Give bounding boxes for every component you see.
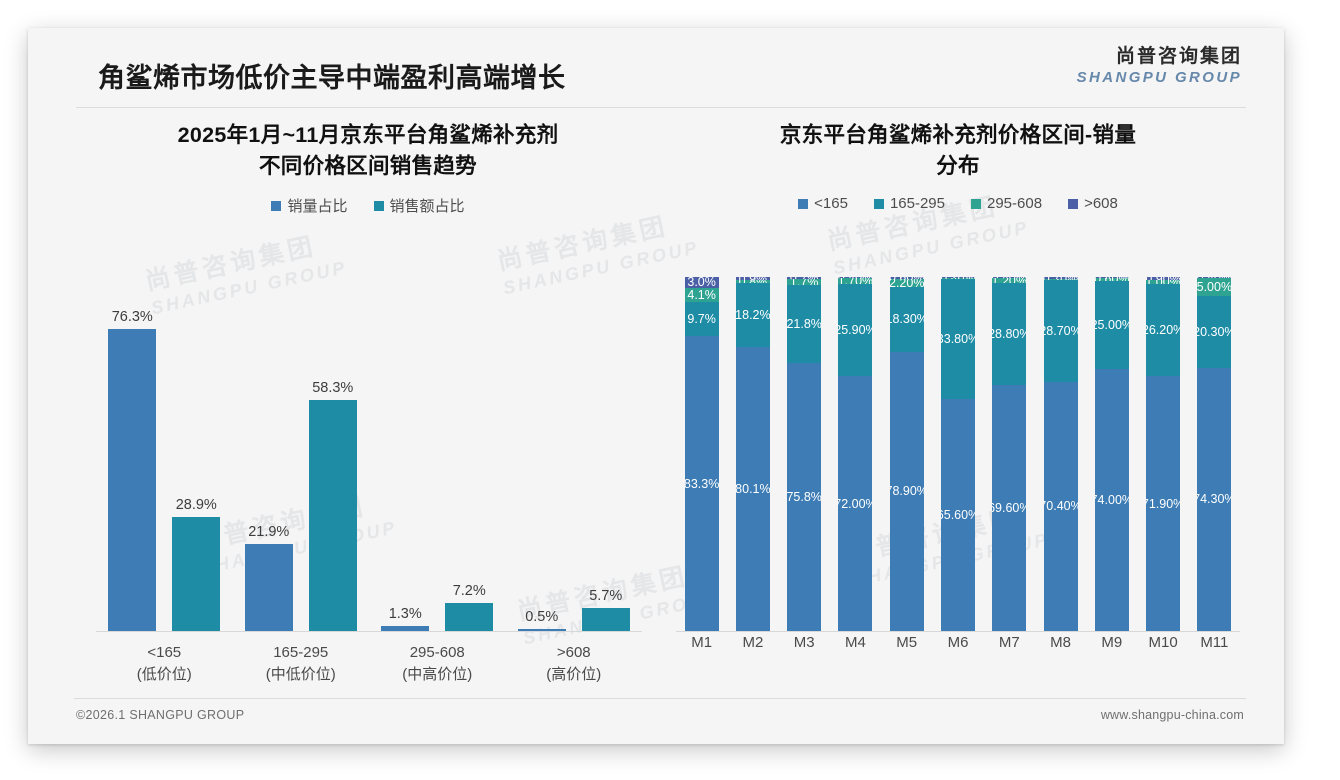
bar-value-label: 0.5% — [525, 609, 558, 625]
legend-swatch-icon — [271, 201, 281, 211]
bar-item[interactable]: 28.9% — [172, 271, 220, 631]
legend-label: 295-608 — [987, 195, 1042, 212]
stacked-segment-label: 83.3% — [685, 477, 719, 491]
legend-item[interactable]: 295-608 — [971, 195, 1042, 212]
stacked-bar[interactable]: 3.0%4.1%9.7%83.3% — [685, 277, 719, 631]
x-axis-category-label: <165(低价位) — [96, 642, 233, 686]
bar-value-label: 76.3% — [112, 309, 153, 325]
left-chart-title-line2: 不同价格区间销售趋势 — [78, 151, 658, 182]
x-axis-category-main: >608 — [506, 642, 643, 664]
x-axis-category-main: 165-295 — [233, 642, 370, 664]
right-chart-plot: 3.0%4.1%9.7%83.3%M10.9%0.8%18.2%80.1%M20… — [676, 270, 1240, 632]
stacked-segment-label: 74.30% — [1197, 492, 1231, 506]
left-chart-title-line1: 2025年1月~11月京东平台角鲨烯补充剂 — [78, 120, 658, 151]
stacked-bar-segment[interactable]: 3.0% — [685, 277, 719, 288]
right-chart-legend: <165165-295295-608>608 — [668, 195, 1248, 212]
x-axis-month-label: M4 — [838, 634, 872, 651]
stacked-segment-label: 4.1% — [687, 288, 716, 302]
stacked-segment-label: 20.30% — [1197, 325, 1231, 339]
x-axis-month-label: M6 — [941, 634, 975, 651]
bar-group: 76.3%28.9% — [96, 271, 233, 631]
right-chart-title-line1: 京东平台角鲨烯补充剂价格区间-销量 — [668, 120, 1248, 151]
bar-value-label: 21.9% — [248, 524, 289, 540]
stacked-segment-label: 26.20% — [1146, 323, 1180, 337]
legend-item[interactable]: 165-295 — [874, 195, 945, 212]
bar-rect[interactable] — [108, 329, 156, 631]
bar-group: 21.9%58.3% — [233, 271, 370, 631]
stacked-bar-segment[interactable]: 74.30% — [1197, 368, 1231, 631]
right-chart-axis-line — [676, 631, 1240, 632]
header-divider — [76, 107, 1246, 108]
stacked-bar-segment[interactable]: 18.30% — [890, 287, 924, 352]
x-axis-month-label: M11 — [1197, 634, 1231, 651]
stacked-bar[interactable]: 0.70%0.20%28.70%70.40% — [1044, 277, 1078, 631]
bar-rect[interactable] — [172, 517, 220, 631]
bar-rect[interactable] — [582, 608, 630, 631]
stacked-bar-segment[interactable]: 80.1% — [736, 347, 770, 631]
legend-item[interactable]: 销量占比 — [271, 195, 347, 216]
stacked-bar-segment[interactable]: 5.00% — [1197, 278, 1231, 296]
bar-item[interactable]: 5.7% — [582, 271, 630, 631]
chart-panel-left: 2025年1月~11月京东平台角鲨烯补充剂 不同价格区间销售趋势 销量占比销售额… — [78, 120, 658, 710]
stacked-segment-label: 3.0% — [687, 277, 716, 288]
stacked-bar-segment[interactable]: 21.8% — [787, 285, 821, 362]
x-axis-category-sub: (高价位) — [506, 664, 643, 686]
slide-canvas: 尚普咨询集团 SHANGPU GROUP 尚普咨询集团 SHANGPU GROU… — [28, 28, 1284, 744]
bar-item[interactable]: 58.3% — [309, 271, 357, 631]
x-axis-month-label: M1 — [685, 634, 719, 651]
stacked-bar-segment[interactable]: 4.1% — [685, 288, 719, 302]
bar-value-label: 7.2% — [453, 583, 486, 599]
x-axis-category-label: >608(高价位) — [506, 642, 643, 686]
left-chart-axis-line — [96, 631, 642, 632]
left-chart-legend: 销量占比销售额占比 — [78, 195, 658, 216]
page-title: 角鲨烯市场低价主导中端盈利高端增长 — [98, 56, 566, 95]
x-axis-month-label: M7 — [992, 634, 1026, 651]
bar-rect[interactable] — [381, 626, 429, 631]
x-axis-month-label: M9 — [1095, 634, 1129, 651]
bar-value-label: 58.3% — [312, 380, 353, 396]
bar-rect[interactable] — [245, 544, 293, 631]
stacked-bar-segment[interactable]: 70.40% — [1044, 382, 1078, 631]
stacked-segment-label: 18.30% — [890, 312, 924, 326]
right-chart-title-line2: 分布 — [668, 151, 1248, 182]
legend-label: <165 — [814, 195, 848, 212]
bar-item[interactable]: 7.2% — [445, 271, 493, 631]
legend-item[interactable]: 销售额占比 — [374, 195, 465, 216]
x-axis-month-label: M5 — [890, 634, 924, 651]
bar-group: 1.3%7.2% — [369, 271, 506, 631]
stacked-segment-label: 28.80% — [992, 327, 1026, 341]
stacked-segment-label: 65.60% — [941, 508, 975, 522]
x-axis-month-label: M10 — [1146, 634, 1180, 651]
legend-swatch-icon — [798, 199, 808, 209]
legend-swatch-icon — [874, 199, 884, 209]
x-axis-category-sub: (低价位) — [96, 664, 233, 686]
stacked-bar[interactable]: 0.7%1.7%21.8%75.8% — [787, 277, 821, 631]
stacked-bar-segment[interactable]: 20.30% — [1197, 296, 1231, 368]
legend-item[interactable]: <165 — [798, 195, 848, 212]
bar-item[interactable]: 1.3% — [381, 271, 429, 631]
stacked-segment-label: 69.60% — [992, 501, 1026, 515]
stacked-bar-segment[interactable]: 2.20% — [890, 279, 924, 287]
x-axis-category-sub: (中高价位) — [369, 664, 506, 686]
stacked-bar-segment[interactable]: 18.2% — [736, 283, 770, 347]
legend-swatch-icon — [1068, 199, 1078, 209]
stacked-bar-segment[interactable]: 28.80% — [992, 283, 1026, 385]
x-axis-month-label: M8 — [1044, 634, 1078, 651]
stacked-segment-label: 70.40% — [1044, 499, 1078, 513]
x-axis-month-label: M2 — [736, 634, 770, 651]
right-chart-title: 京东平台角鲨烯补充剂价格区间-销量 分布 — [668, 120, 1248, 181]
stacked-bar-segment[interactable]: 25.90% — [838, 284, 872, 376]
stacked-segment-label: 2.20% — [890, 279, 924, 287]
stacked-bar[interactable]: 0.9%0.8%18.2%80.1% — [736, 277, 770, 631]
legend-swatch-icon — [971, 199, 981, 209]
bar-value-label: 5.7% — [589, 588, 622, 604]
stacked-segment-label: 18.2% — [736, 308, 770, 322]
footer-copyright: ©2026.1 SHANGPU GROUP — [76, 708, 244, 722]
legend-label: >608 — [1084, 195, 1118, 212]
brand-logo: 尚普咨询集团 SHANGPU GROUP — [1077, 45, 1242, 87]
stacked-segment-label: 78.90% — [890, 484, 924, 498]
x-axis-category-main: 295-608 — [369, 642, 506, 664]
stacked-segment-label: 5.00% — [1197, 280, 1231, 294]
stacked-segment-label: 28.70% — [1044, 324, 1078, 338]
bar-group: 0.5%5.7% — [506, 271, 643, 631]
stacked-bar[interactable]: 0.40%0.60%25.00%74.00% — [1095, 277, 1129, 631]
bar-value-label: 1.3% — [389, 606, 422, 622]
bar-rect[interactable] — [518, 629, 566, 631]
bar-item[interactable]: 0.5% — [518, 271, 566, 631]
stacked-segment-label: 71.90% — [1146, 497, 1180, 511]
stacked-bar[interactable]: 0.60%2.20%18.30%78.90% — [890, 277, 924, 631]
legend-label: 165-295 — [890, 195, 945, 212]
bar-item[interactable]: 76.3% — [108, 271, 156, 631]
stacked-bar[interactable]: 0.40%5.00%20.30%74.30% — [1197, 277, 1231, 631]
stacked-segment-label: 75.8% — [787, 490, 821, 504]
stacked-bar-segment[interactable]: 33.80% — [941, 279, 975, 399]
stacked-bar[interactable]: 0.20%0.40%33.80%65.60% — [941, 277, 975, 631]
stacked-segment-label: 25.90% — [838, 323, 872, 337]
stacked-bar-segment[interactable]: 72.00% — [838, 376, 872, 631]
stacked-bar[interactable]: 0.40%1.70%25.90%72.00% — [838, 277, 872, 631]
chart-panel-right: 京东平台角鲨烯补充剂价格区间-销量 分布 <165165-295295-608>… — [668, 120, 1248, 710]
stacked-segment-label: 9.7% — [687, 312, 716, 326]
stacked-bar-segment[interactable]: 69.60% — [992, 385, 1026, 631]
stacked-bar-segment[interactable]: 74.00% — [1095, 369, 1129, 631]
x-axis-category-label: 295-608(中高价位) — [369, 642, 506, 686]
bar-rect[interactable] — [309, 400, 357, 631]
stacked-bar-segment[interactable]: 71.90% — [1146, 376, 1180, 631]
footer-website: www.shangpu-china.com — [1101, 708, 1244, 722]
x-axis-category-label: 165-295(中低价位) — [233, 642, 370, 686]
stacked-bar-segment[interactable]: 78.90% — [890, 352, 924, 631]
legend-label: 销售额占比 — [390, 195, 465, 216]
legend-label: 销量占比 — [287, 195, 347, 216]
bar-value-label: 28.9% — [176, 497, 217, 513]
stacked-bar[interactable]: 0.90%1.00%26.20%71.90% — [1146, 277, 1180, 631]
stacked-bar-segment[interactable]: 83.3% — [685, 336, 719, 631]
stacked-segment-label: 74.00% — [1095, 493, 1129, 507]
stacked-bar-segment[interactable]: 9.7% — [685, 302, 719, 336]
bar-item[interactable]: 21.9% — [245, 271, 293, 631]
legend-swatch-icon — [374, 201, 384, 211]
stacked-bar-segment[interactable]: 25.00% — [1095, 281, 1129, 370]
stacked-bar[interactable]: 0.40%1.20%28.80%69.60% — [992, 277, 1026, 631]
legend-item[interactable]: >608 — [1068, 195, 1118, 212]
x-axis-month-label: M3 — [787, 634, 821, 651]
brand-name-cn: 尚普咨询集团 — [1077, 45, 1242, 69]
stacked-segment-label: 33.80% — [941, 332, 975, 346]
stacked-bar-segment[interactable]: 75.8% — [787, 363, 821, 631]
x-axis-category-sub: (中低价位) — [233, 664, 370, 686]
stacked-segment-label: 25.00% — [1095, 318, 1129, 332]
x-axis-category-main: <165 — [96, 642, 233, 664]
stacked-segment-label: 72.00% — [838, 497, 872, 511]
bar-rect[interactable] — [445, 603, 493, 632]
stacked-bar-segment[interactable]: 28.70% — [1044, 280, 1078, 382]
brand-name-en: SHANGPU GROUP — [1077, 69, 1242, 87]
stacked-segment-label: 80.1% — [736, 482, 770, 496]
stacked-bar-segment[interactable]: 65.60% — [941, 399, 975, 631]
stacked-segment-label: 21.8% — [787, 317, 821, 331]
left-chart-title: 2025年1月~11月京东平台角鲨烯补充剂 不同价格区间销售趋势 — [78, 120, 658, 181]
slide-header: 角鲨烯市场低价主导中端盈利高端增长 尚普咨询集团 SHANGPU GROUP — [28, 28, 1284, 108]
left-chart-plot: 76.3%28.9%<165(低价位)21.9%58.3%165-295(中低价… — [96, 270, 642, 632]
stacked-bar-segment[interactable]: 26.20% — [1146, 284, 1180, 377]
